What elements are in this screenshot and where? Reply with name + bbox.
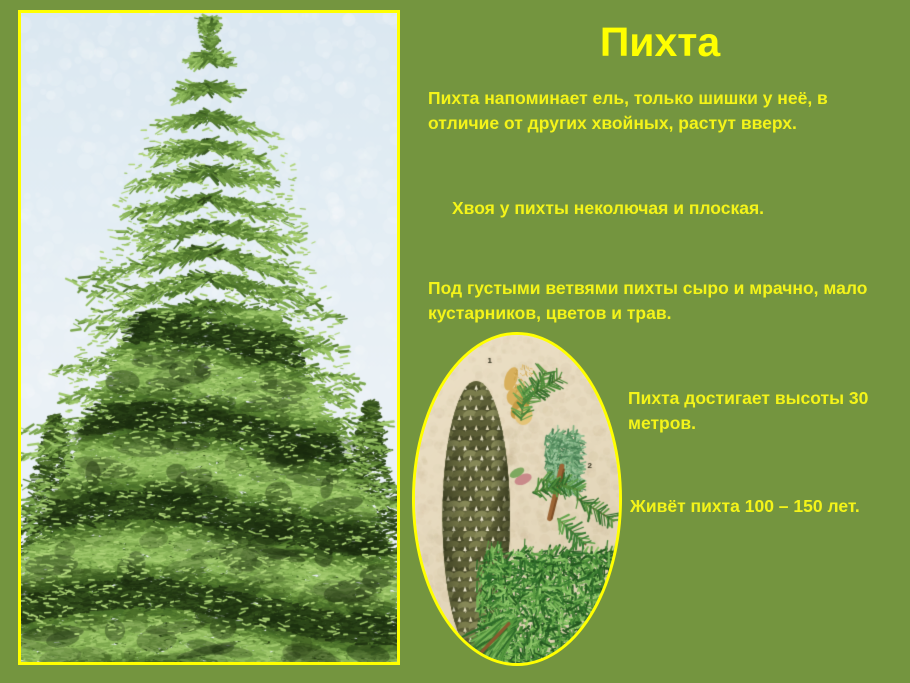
- fir-tree-photo: [18, 10, 400, 665]
- paragraph-undergrowth: Под густыми ветвями пихты сыро и мрачно,…: [428, 276, 898, 326]
- page-title: Пихта: [420, 20, 900, 65]
- fir-tree-photo-canvas: [21, 13, 397, 662]
- slide: Пихта Пихта напоминает ель, только шишки…: [0, 0, 910, 683]
- fir-cone-illustration-canvas: [415, 335, 619, 663]
- fir-cone-illustration: [412, 332, 622, 666]
- paragraph-needles: Хвоя у пихты неколючая и плоская.: [452, 196, 902, 221]
- paragraph-lifespan: Живёт пихта 100 – 150 лет.: [630, 494, 902, 519]
- paragraph-description: Пихта напоминает ель, только шишки у неё…: [428, 86, 898, 136]
- paragraph-height: Пихта достигает высоты 30 метров.: [628, 386, 898, 436]
